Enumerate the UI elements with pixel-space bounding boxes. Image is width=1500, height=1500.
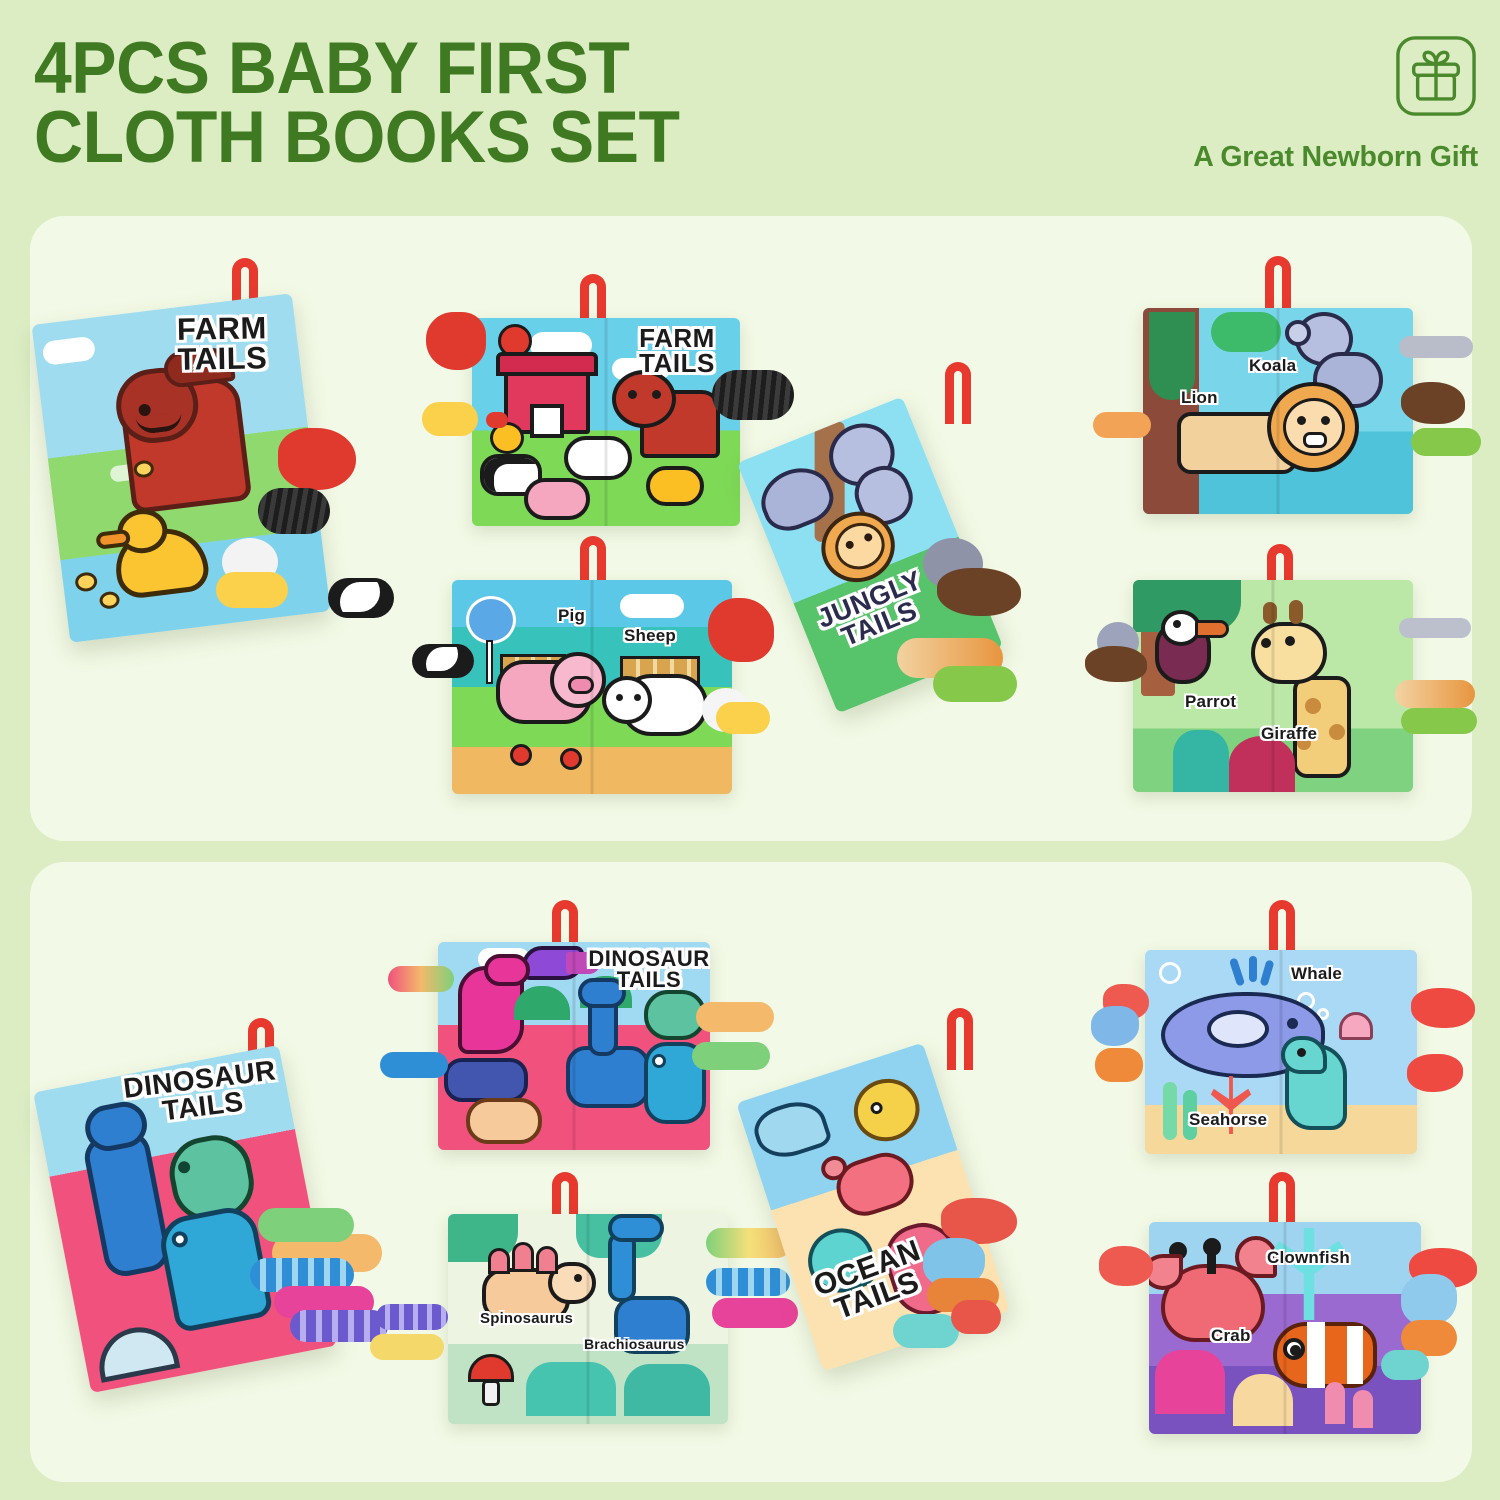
jungle-label-giraffe: Giraffe (1261, 724, 1317, 744)
farm-label-pig: Pig (558, 606, 585, 626)
plush-tail-red (1099, 1246, 1153, 1286)
farm-cover-title: FARM TAILS (147, 313, 298, 375)
plush-tail-duck (422, 402, 478, 436)
plush-tail-elephant (1399, 618, 1471, 638)
plush-tail-horse (258, 488, 330, 534)
dino-spread-spino-brachio: Spinosaurus Brachiosaurus (448, 1214, 728, 1424)
plush-tail-giraffe (1401, 708, 1477, 734)
plush-tail-cow (328, 578, 394, 618)
ocean-spread-whale-seahorse: Whale Seahorse (1145, 950, 1417, 1154)
plush-tail-red-2 (1411, 988, 1475, 1028)
gift-callout: A Great Newborn Gift (1038, 34, 1478, 174)
page-title-line2: CLOTH BOOKS SET (34, 103, 871, 172)
plush-tail-teal (1381, 1350, 1429, 1380)
plush-tail-monkey (1401, 382, 1465, 424)
page-header: 4PCS BABY FIRST CLOTH BOOKS SET A Great … (0, 0, 1500, 216)
plush-tail-green (258, 1208, 354, 1242)
section-dinosaur-world: DINOSAUR TAILS (40, 900, 740, 1475)
plush-tail-elephant (1399, 336, 1473, 358)
plush-tail-rooster (426, 312, 486, 370)
jungle-label-lion: Lion (1181, 388, 1218, 408)
dino-label-brachiosaurus: Brachiosaurus (584, 1336, 685, 1352)
jungle-label-parrot: Parrot (1185, 692, 1236, 712)
dino-cover-title: DINOSAUR TAILS (106, 1055, 297, 1131)
farm-spread-pig-sheep: Pig Sheep (452, 580, 732, 794)
plush-tail-giraffe (933, 666, 1017, 702)
plush-tail-blue (380, 1052, 448, 1078)
ocean-spread-crab-clownfish: Crab Clownfish (1149, 1222, 1421, 1434)
ocean-label-clownfish: Clownfish (1267, 1248, 1350, 1268)
page-title: 4PCS BABY FIRST CLOTH BOOKS SET (34, 34, 871, 173)
dino-label-spinosaurus: Spinosaurus (480, 1310, 573, 1327)
plush-tail-cow (412, 644, 474, 678)
plush-tail-purple (376, 1304, 448, 1330)
plush-tail-orange (1095, 1048, 1143, 1082)
plush-tail-duck (216, 572, 288, 608)
plush-tail-red-3 (1407, 1054, 1463, 1092)
section-ocean-world: OCEAN TAILS (755, 900, 1470, 1475)
jungle-spread-parrot-giraffe: Parrot Giraffe (1133, 580, 1413, 792)
plush-tail-monkey (937, 568, 1021, 616)
plush-tail-rainbow (388, 966, 454, 992)
farm-spread-cover: FARM TAILS (472, 318, 740, 526)
plush-tail-yellow (370, 1334, 444, 1360)
plush-tail-blue (1091, 1006, 1139, 1046)
ocean-label-crab: Crab (1211, 1326, 1251, 1346)
plush-tail-giraffe (1411, 428, 1481, 456)
dino-spread-title: DINOSAUR TAILS (588, 948, 710, 990)
farm-label-sheep: Sheep (624, 626, 676, 646)
ocean-label-whale: Whale (1291, 964, 1342, 984)
section-jungle-world: JUNGLY TAILS Lion Koala (755, 250, 1470, 830)
plush-tail-teal (893, 1314, 959, 1348)
section-farm-world: FARM TAILS (40, 250, 740, 830)
gift-box-icon (1394, 34, 1478, 118)
ocean-label-seahorse: Seahorse (1189, 1110, 1267, 1130)
plush-tail-lion (1395, 680, 1475, 708)
gift-tagline: A Great Newborn Gift (1038, 141, 1478, 174)
hang-loop-icon (947, 1008, 973, 1070)
plush-tail-blue (1401, 1274, 1457, 1326)
dino-spread-cover: DINOSAUR TAILS (438, 942, 710, 1150)
plush-tail-lion (1093, 412, 1151, 438)
plush-tail-monkey (1085, 646, 1147, 682)
jungle-label-koala: Koala (1249, 356, 1296, 376)
hang-loop-icon (945, 362, 971, 424)
farm-spread-title: FARM TAILS (618, 326, 736, 376)
jungle-spread-lion-koala: Lion Koala (1143, 308, 1413, 514)
plush-tail-rooster (278, 428, 356, 490)
plush-tail-red-2 (951, 1300, 1001, 1334)
